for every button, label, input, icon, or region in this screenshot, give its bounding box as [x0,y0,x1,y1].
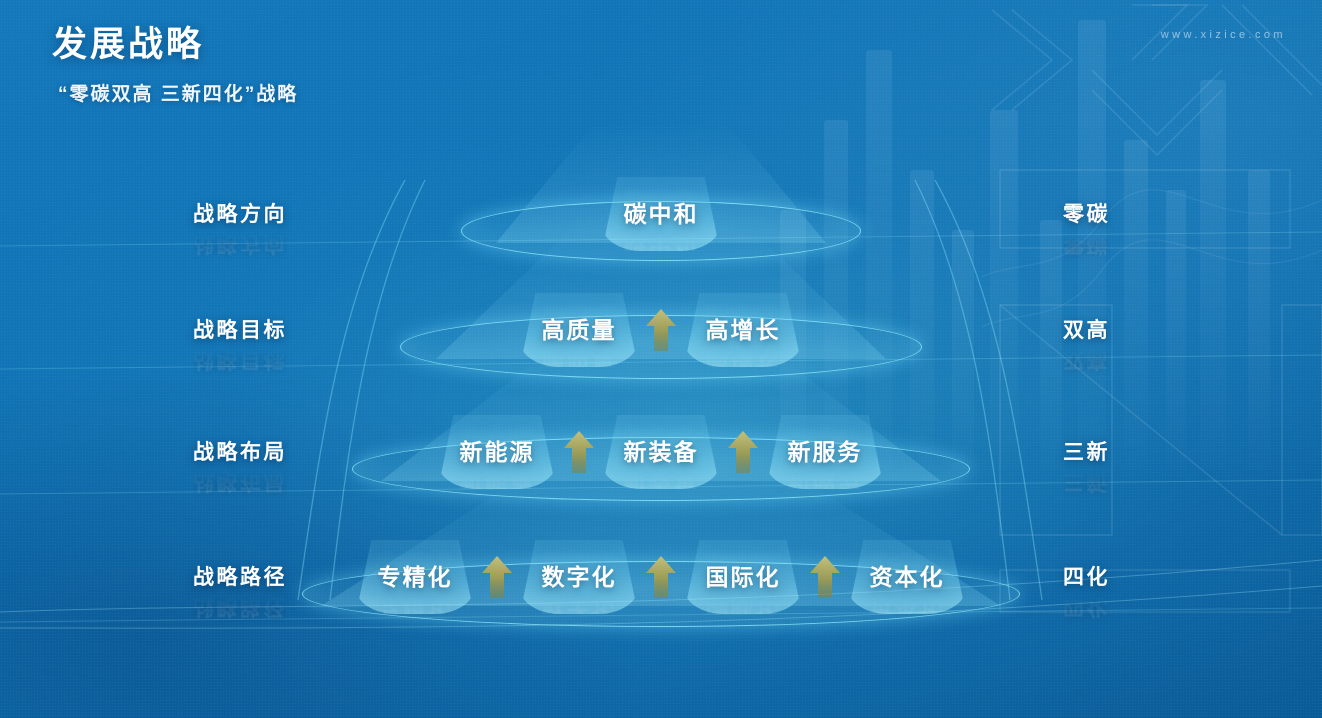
keyword-label: 专精化 [378,558,453,592]
tier-right-label-reflection: 四化 [1063,593,1110,623]
keyword-label: 资本化 [870,558,945,592]
page-subtitle: “零碳双高 三新四化”战略 [58,79,298,106]
keyword-chip[interactable]: 专精化专精化 [356,540,474,614]
keyword-chip[interactable]: 资本化资本化 [848,540,966,614]
arrow-up-icon [720,415,766,489]
tier-keyword-group: 专精化专精化数字化数字化国际化国际化资本化资本化 [356,540,966,614]
page-title: 发展战略 [52,16,298,67]
tier-left-label-reflection: 战略路径 [193,593,287,623]
keyword-label: 数字化 [542,558,617,592]
tier-left-label-1: 战略方向战略方向 [193,198,287,228]
tier-right-label-reflection: 三新 [1063,468,1110,498]
tier-left-label-4: 战略路径战略路径 [193,561,287,591]
slide-canvas: 发展战略 “零碳双高 三新四化”战略 www.xizice.com 战略方向战略… [0,0,1322,718]
keyword-chip[interactable]: 新装备新装备 [602,415,720,489]
tier-right-label-reflection: 零碳 [1063,230,1110,260]
tier-left-label-reflection: 战略布局 [193,468,287,498]
keyword-label: 碳中和 [624,195,699,229]
arrow-up-icon [638,293,684,367]
tier-left-label-2: 战略目标战略目标 [193,314,287,344]
keyword-label: 新能源 [460,433,535,467]
keyword-label: 新装备 [624,433,699,467]
tier-keyword-group: 碳中和碳中和 [602,177,720,251]
tier-right-label-2: 双高双高 [1063,314,1110,344]
tier-keyword-group: 高质量高质量高增长高增长 [520,293,802,367]
watermark: www.xizice.com [1161,29,1286,41]
arrow-up-icon [802,540,848,614]
keyword-chip[interactable]: 碳中和碳中和 [602,177,720,251]
keyword-chip[interactable]: 数字化数字化 [520,540,638,614]
keyword-chip[interactable]: 高质量高质量 [520,293,638,367]
arrow-up-icon [556,415,602,489]
tier-right-label-reflection: 双高 [1063,346,1110,376]
tier-keyword-group: 新能源新能源新装备新装备新服务新服务 [438,415,884,489]
background-lineart [982,0,1322,620]
keyword-chip[interactable]: 国际化国际化 [684,540,802,614]
tier-left-label-3: 战略布局战略布局 [193,436,287,466]
keyword-chip[interactable]: 高增长高增长 [684,293,802,367]
arrow-up-icon [638,540,684,614]
keyword-label: 国际化 [706,558,781,592]
tier-left-label-reflection: 战略方向 [193,230,287,260]
keyword-label: 新服务 [788,433,863,467]
keyword-chip[interactable]: 新能源新能源 [438,415,556,489]
keyword-label: 高增长 [706,311,781,345]
keyword-label: 高质量 [542,311,617,345]
keyword-chip[interactable]: 新服务新服务 [766,415,884,489]
tier-right-label-1: 零碳零碳 [1063,198,1110,228]
header: 发展战略 “零碳双高 三新四化”战略 [52,16,298,106]
tier-right-label-4: 四化四化 [1063,561,1110,591]
arrow-up-icon [474,540,520,614]
tier-right-label-3: 三新三新 [1063,436,1110,466]
tier-left-label-reflection: 战略目标 [193,346,287,376]
